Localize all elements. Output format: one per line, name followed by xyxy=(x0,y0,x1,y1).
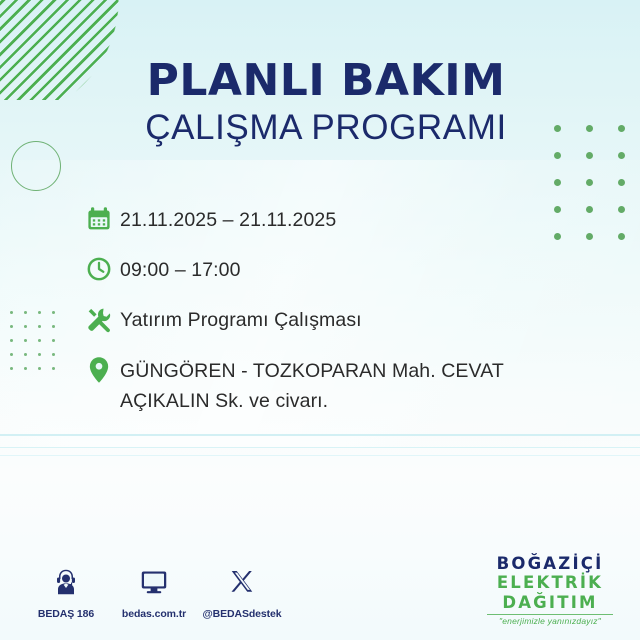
contact-channels: BEDAŞ 186 bedas.com.tr xyxy=(22,562,286,620)
contact-label-call-center: BEDAŞ 186 xyxy=(22,608,110,620)
detail-row-date: 21.11.2025 – 21.11.2025 xyxy=(86,203,606,235)
time-range-text: 09:00 – 17:00 xyxy=(120,253,241,285)
work-type-text: Yatırım Programı Çalışması xyxy=(120,303,362,335)
circle-outline-decoration xyxy=(11,141,61,191)
contact-label-x: @BEDASdestek xyxy=(198,608,286,620)
bedas-logo: BOĞAZİÇİ ELEKTRİK DAĞITIM "enerjimizle y… xyxy=(482,554,618,626)
support-agent-icon xyxy=(22,562,110,602)
clock-icon xyxy=(86,253,120,285)
detail-row-work-type: Yatırım Programı Çalışması xyxy=(86,303,606,335)
contact-item-x[interactable]: @BEDASdestek xyxy=(198,562,286,620)
details-list: 21.11.2025 – 21.11.2025 09:00 – 17:00 Ya… xyxy=(86,203,606,434)
background-band xyxy=(0,434,640,436)
dot-grid-left-decoration xyxy=(10,311,66,381)
location-pin-icon xyxy=(86,354,120,386)
monitor-icon xyxy=(110,562,198,602)
detail-row-time: 09:00 – 17:00 xyxy=(86,253,606,285)
title-line-2: ÇALIŞMA PROGRAMI xyxy=(0,108,640,148)
date-range-text: 21.11.2025 – 21.11.2025 xyxy=(120,203,336,235)
footer: BEDAŞ 186 bedas.com.tr xyxy=(0,540,640,640)
brand-line-2: ELEKTRİK xyxy=(482,573,618,592)
brand-line-3: DAĞITIM xyxy=(482,593,618,612)
contact-item-call-center[interactable]: BEDAŞ 186 xyxy=(22,562,110,620)
calendar-icon xyxy=(86,203,120,235)
tools-icon xyxy=(86,303,120,335)
brand-divider xyxy=(487,614,613,615)
brand-line-1: BOĞAZİÇİ xyxy=(482,554,618,573)
background-band xyxy=(0,455,640,456)
detail-row-location: GÜNGÖREN - TOZKOPARAN Mah. CEVAT AÇIKALI… xyxy=(86,354,606,416)
brand-tagline: "enerjimizle yanınızdayız" xyxy=(482,616,618,626)
location-text: GÜNGÖREN - TOZKOPARAN Mah. CEVAT AÇIKALI… xyxy=(120,354,580,416)
contact-label-website: bedas.com.tr xyxy=(110,608,198,620)
title-line-1: PLANLI BAKIM xyxy=(0,58,640,104)
contact-item-website[interactable]: bedas.com.tr xyxy=(110,562,198,620)
planned-maintenance-poster: PLANLI BAKIM ÇALIŞMA PROGRAMI 21.11 xyxy=(0,0,640,640)
background-band xyxy=(0,447,640,448)
x-twitter-icon xyxy=(198,562,286,602)
page-title: PLANLI BAKIM ÇALIŞMA PROGRAMI xyxy=(0,58,640,148)
